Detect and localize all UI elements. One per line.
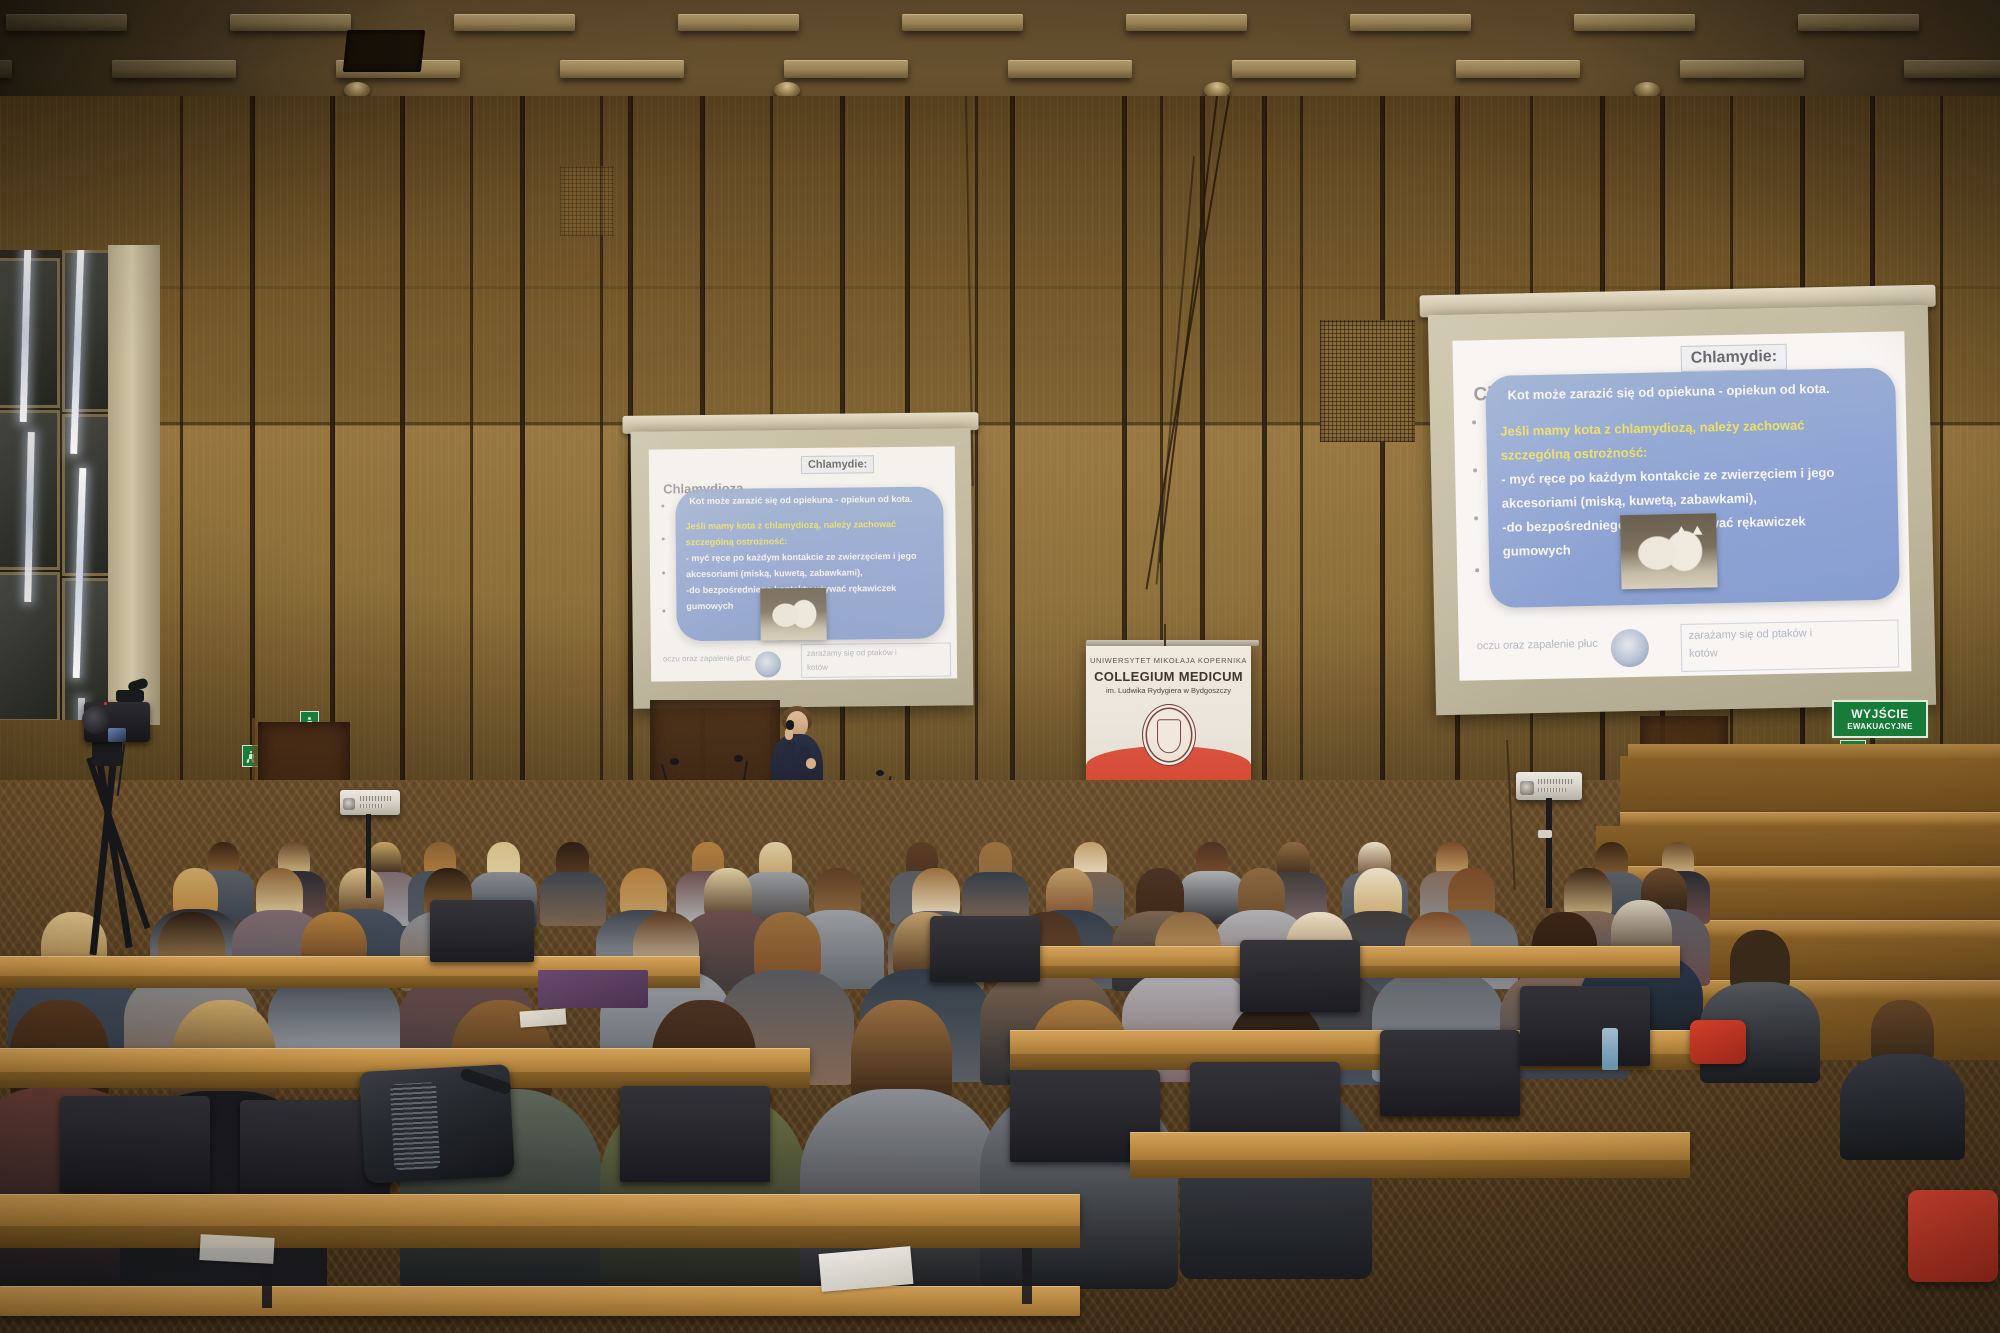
notebook-foreground: [819, 1246, 914, 1292]
presenter-hand-right: [806, 758, 816, 769]
banner-line-3: im. Ludwika Rydygiera w Bydgoszczy: [1086, 686, 1251, 695]
slide-micrograph-right: [1610, 629, 1649, 668]
wall-batten: [520, 96, 525, 796]
projector-lens-right-icon: [1520, 781, 1534, 795]
paper-sheet-mid: [519, 1008, 566, 1027]
projector-right: [1516, 772, 1582, 800]
slide-bg-text-r2-right: kotów: [1689, 647, 1718, 660]
wall-horizontal-seam-upper: [0, 286, 2000, 289]
ceiling-coffer: [6, 14, 127, 31]
stair-tread-1: [1620, 812, 2000, 826]
exit-sign-line-1: WYJŚCIE: [1851, 708, 1909, 720]
projection-screen-right: Chlamydioza Chlamydie: oczu oraz zapalen…: [1428, 305, 1936, 715]
backpack-foreground: [359, 1064, 515, 1184]
exit-sign-line-2: EWAKUACYJNE: [1847, 723, 1913, 731]
wall-batten: [1380, 96, 1385, 796]
ceiling-coffer: [1232, 60, 1356, 78]
window-bay-pillar: [108, 245, 160, 725]
slide-bg-text-right: oczu oraz zapalenie płuc: [1477, 638, 1598, 653]
banner-pole: [1164, 624, 1166, 646]
audience-chair[interactable]: [1380, 1030, 1520, 1116]
camera-lens: [82, 706, 110, 734]
audience-desk-front-1: [0, 1194, 1080, 1228]
slide-tag-left: Chlamydie:: [801, 455, 874, 474]
audience-torso: [1840, 1054, 1965, 1160]
emergency-exit-sign: WYJŚCIE EWAKUACYJNE: [1832, 700, 1928, 738]
projector-stand-left: [366, 814, 371, 898]
wall-batten: [470, 96, 473, 796]
audience-chair[interactable]: [1520, 986, 1650, 1066]
desk-edge: [0, 1226, 1080, 1248]
wall-batten: [1300, 96, 1303, 796]
banner-top-rod: [1086, 640, 1259, 646]
desk-leg: [1022, 1248, 1032, 1304]
wall-mesh-vent-3: [560, 166, 614, 236]
ceiling-coffer: [1008, 60, 1132, 78]
callout-line-3-right: szczególną ostrożność:: [1501, 445, 1648, 463]
projector-vent-left: [360, 796, 392, 801]
callout-line-7-right: gumowych: [1503, 542, 1571, 558]
red-bag-foreground: [1908, 1190, 1998, 1282]
slide-bg-text-r1-right: zarażamy się od ptaków i: [1689, 627, 1813, 642]
slide-left: Chlamydioza Chlamydie: oczu oraz zapalen…: [649, 446, 957, 681]
ceiling-coffer: [678, 14, 799, 31]
audience-chair[interactable]: [1240, 940, 1360, 1012]
purple-cloth-on-desk: [538, 970, 648, 1008]
slide-cat-image-left: [760, 588, 827, 641]
slide-tag-right: Chlamydie:: [1681, 344, 1788, 372]
ceiling-coffer: [560, 60, 684, 78]
slide-micrograph-left: [755, 651, 781, 677]
audience-member-right: [1700, 930, 1820, 1098]
camera-rec-light-icon: [104, 702, 107, 705]
ceiling-coffer: [1574, 14, 1695, 31]
projection-screen-left: Chlamydioza Chlamydie: oczu oraz zapalen…: [631, 428, 974, 709]
callout-line-4-right: - myć ręce po każdym kontakcie ze zwierz…: [1501, 465, 1834, 487]
slide-callout-right: Kot może zarazić się od opiekuna - opiek…: [1485, 368, 1900, 609]
lecture-hall-photo: Chlamydioza Chlamydie: oczu oraz zapalen…: [0, 0, 2000, 1333]
paper-sheet-left: [199, 1234, 274, 1264]
ceiling-coffer: [1350, 14, 1471, 31]
slide-cat-image-right: [1620, 513, 1718, 589]
gooseneck-mic-head-2: [734, 755, 743, 762]
banner-line-2: COLLEGIUM MEDICUM: [1086, 669, 1251, 684]
wall-batten: [250, 96, 255, 796]
callout-line-1-right: Kot może zarazić się od opiekuna - opiek…: [1507, 381, 1829, 403]
red-bag-on-stairs: [1690, 1020, 1746, 1064]
slide-right: Chlamydioza Chlamydie: oczu oraz zapalen…: [1452, 331, 1911, 680]
ceiling-coffer: [230, 14, 351, 31]
water-bottle: [1602, 1028, 1618, 1070]
ceiling-coffer: [1126, 14, 1247, 31]
wall-batten: [400, 96, 405, 796]
audience-chair[interactable]: [930, 916, 1040, 982]
projector-vent-left-2: [360, 804, 384, 808]
wall-batten: [1940, 96, 1943, 796]
gooseneck-mic-head-1: [670, 758, 679, 765]
ceiling-coffer: [112, 60, 236, 78]
audience-desk-front-2: [0, 1286, 1080, 1316]
projector-stand-right: [1546, 798, 1552, 908]
callout-line-7-left: gumowych: [686, 601, 733, 611]
ceiling-coffer: [902, 14, 1023, 31]
audience-member-right: [1840, 1000, 1965, 1175]
university-crest: [1142, 704, 1196, 766]
ceiling-coffer: [784, 60, 908, 78]
wall-batten: [330, 96, 335, 796]
wall-batten: [1010, 96, 1015, 796]
callout-line-4-left: - myć ręce po każdym kontakcie ze zwierz…: [686, 551, 917, 563]
stage-edge-trim: [1628, 744, 2000, 758]
ceiling-coffer: [1904, 60, 2000, 78]
projector-stand-clamp: [1538, 830, 1552, 838]
projector-left: [340, 790, 400, 815]
crest-shield: [1157, 719, 1181, 753]
slide-bg-text-left: oczu oraz zapalenie płuc: [663, 654, 751, 664]
gooseneck-mic-head-3: [876, 770, 884, 776]
callout-line-2-right: Jeśli mamy kota z chlamydiozą, należy za…: [1500, 417, 1804, 438]
ceiling-coffer: [1680, 60, 1804, 78]
callout-line-2-left: Jeśli mamy kota z chlamydiozą, należy za…: [685, 519, 896, 531]
ceiling-coffer: [454, 14, 575, 31]
audience-chair[interactable]: [60, 1096, 210, 1192]
desk-edge: [1130, 1160, 1690, 1178]
audience-desk-right-front: [1130, 1132, 1690, 1162]
slide-bg-text-r2-left: kotów: [807, 663, 828, 672]
ceiling-vent: [343, 30, 425, 72]
backpack-strap: [459, 1067, 512, 1095]
audience-chair[interactable]: [430, 900, 534, 962]
left-window-bay: [0, 250, 120, 720]
projector-vent-right-2: [1538, 788, 1566, 792]
stair-riser-1: [1620, 756, 2000, 818]
handheld-microphone: [786, 720, 794, 730]
wall-mesh-vent-1: [1320, 320, 1415, 442]
callout-line-3-left: szczególną ostrożność:: [686, 536, 788, 547]
callout-line-5-left: akcesoriami (miską, kuwetą, zabawkami),: [686, 567, 863, 579]
slide-bg-text-r1-left: zarażamy się od ptaków i: [807, 648, 897, 658]
slide-callout-left: Kot może zarazić się od opiekuna - opiek…: [675, 487, 945, 642]
tripod-head: [92, 740, 122, 766]
banner-line-1: UNIWERSYTET MIKOŁAJA KOPERNIKA: [1086, 656, 1251, 665]
callout-line-1-left: Kot może zarazić się od opiekuna - opiek…: [689, 494, 912, 506]
wall-batten: [180, 96, 183, 796]
callout-line-5-right: akcesoriami (miską, kuwetą, zabawkami),: [1502, 490, 1757, 510]
wall-batten: [1262, 96, 1267, 796]
ceiling-coffer: [0, 60, 12, 78]
ceiling-coffer: [1456, 60, 1580, 78]
camera-viewfinder: [116, 690, 144, 702]
projector-lens-left-icon: [343, 798, 355, 810]
camera-lcd-icon: [108, 728, 126, 742]
wall-batten: [975, 96, 978, 796]
projector-vent-right: [1538, 779, 1574, 784]
audience-chair[interactable]: [620, 1086, 770, 1182]
ceiling-coffer: [1798, 14, 1919, 31]
